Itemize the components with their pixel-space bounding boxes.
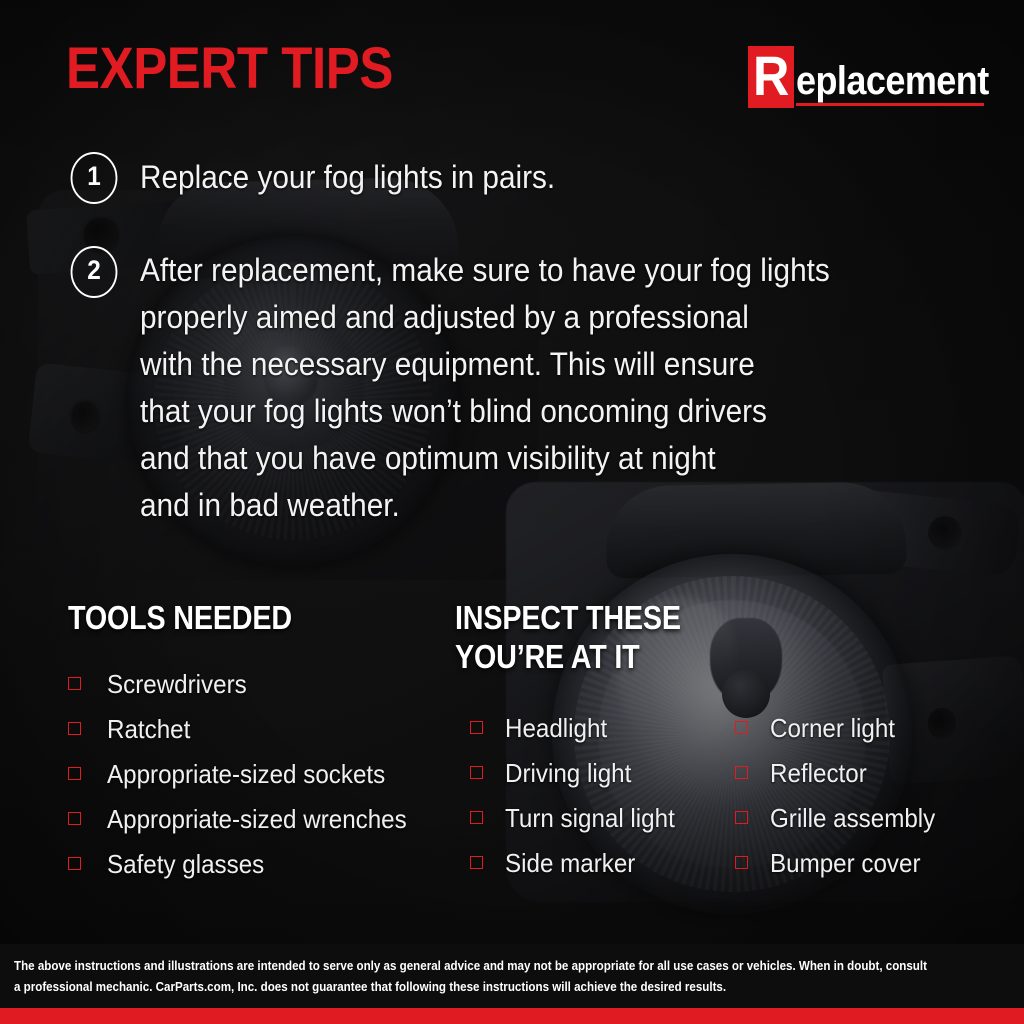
checkbox-icon[interactable] [68, 677, 81, 690]
checkbox-icon[interactable] [68, 767, 81, 780]
list-item: Appropriate-sized wrenches [68, 796, 429, 841]
content-layer: EXPERT TIPS R eplacement 1 Replace your … [0, 0, 1024, 1024]
list-item-label: Turn signal light [505, 804, 675, 832]
disclaimer-text: The above instructions and illustrations… [14, 956, 932, 998]
checkbox-icon[interactable] [470, 766, 483, 779]
logo-underline [796, 103, 984, 106]
inspect-list-column-left: Headlight Driving light Turn signal ligh… [470, 705, 688, 885]
list-item: Corner light [735, 705, 948, 750]
tip-number-badge: 2 [71, 246, 118, 298]
bottom-red-bar [0, 1008, 1024, 1024]
list-item-label: Appropriate-sized sockets [107, 760, 385, 788]
list-item: Headlight [470, 705, 688, 750]
checkbox-icon[interactable] [735, 811, 748, 824]
list-item-label: Headlight [505, 714, 607, 742]
tip-number-badge: 1 [71, 152, 118, 204]
checkbox-icon[interactable] [68, 722, 81, 735]
checkbox-icon[interactable] [470, 856, 483, 869]
logo-wordmark-wrap: eplacement [796, 61, 1010, 108]
list-item-label: Driving light [505, 759, 631, 787]
logo-red-box: R [748, 46, 794, 108]
inspect-list-column-right: Corner light Reflector Grille assembly B… [735, 705, 948, 885]
page-title: EXPERT TIPS [66, 40, 393, 98]
list-item-label: Bumper cover [770, 849, 921, 877]
list-item-label: Ratchet [107, 715, 190, 743]
list-item-label: Appropriate-sized wrenches [107, 805, 407, 833]
list-item: Reflector [735, 750, 948, 795]
checkbox-icon[interactable] [735, 856, 748, 869]
checkbox-icon[interactable] [68, 857, 81, 870]
list-item: Turn signal light [470, 795, 688, 840]
checkbox-icon[interactable] [470, 811, 483, 824]
checkbox-icon[interactable] [68, 812, 81, 825]
list-item: Safety glasses [68, 841, 429, 886]
tip-item-2: 2 After replacement, make sure to have y… [68, 246, 882, 529]
list-item: Grille assembly [735, 795, 948, 840]
list-item: Bumper cover [735, 840, 948, 885]
list-item-label: Corner light [770, 714, 895, 742]
list-item: Screwdrivers [68, 661, 429, 706]
tools-needed-heading: TOOLS NEEDED [68, 598, 292, 637]
list-item: Driving light [470, 750, 688, 795]
list-item: Ratchet [68, 706, 429, 751]
checkbox-icon[interactable] [735, 721, 748, 734]
footer-bar: The above instructions and illustrations… [0, 944, 1024, 1008]
replacement-logo: R eplacement [748, 42, 1010, 108]
checkbox-icon[interactable] [470, 721, 483, 734]
logo-wordmark: eplacement [796, 61, 989, 101]
list-item-label: Safety glasses [107, 850, 264, 878]
list-item-label: Reflector [770, 759, 867, 787]
tip-text: Replace your fog lights in pairs. [140, 154, 555, 201]
checkbox-icon[interactable] [735, 766, 748, 779]
tools-needed-list: Screwdrivers Ratchet Appropriate-sized s… [68, 661, 429, 886]
logo-letter-r: R [753, 48, 789, 104]
tip-text: After replacement, make sure to have you… [140, 247, 830, 529]
list-item: Appropriate-sized sockets [68, 751, 429, 796]
list-item: Side marker [470, 840, 688, 885]
list-item-label: Screwdrivers [107, 670, 247, 698]
list-item-label: Grille assembly [770, 804, 935, 832]
tip-item-1: 1 Replace your fog lights in pairs. [68, 152, 586, 204]
list-item-label: Side marker [505, 849, 635, 877]
inspect-these-heading: INSPECT THESE YOU’RE AT IT [455, 598, 681, 676]
expert-tips-infographic: EXPERT TIPS R eplacement 1 Replace your … [0, 0, 1024, 1024]
